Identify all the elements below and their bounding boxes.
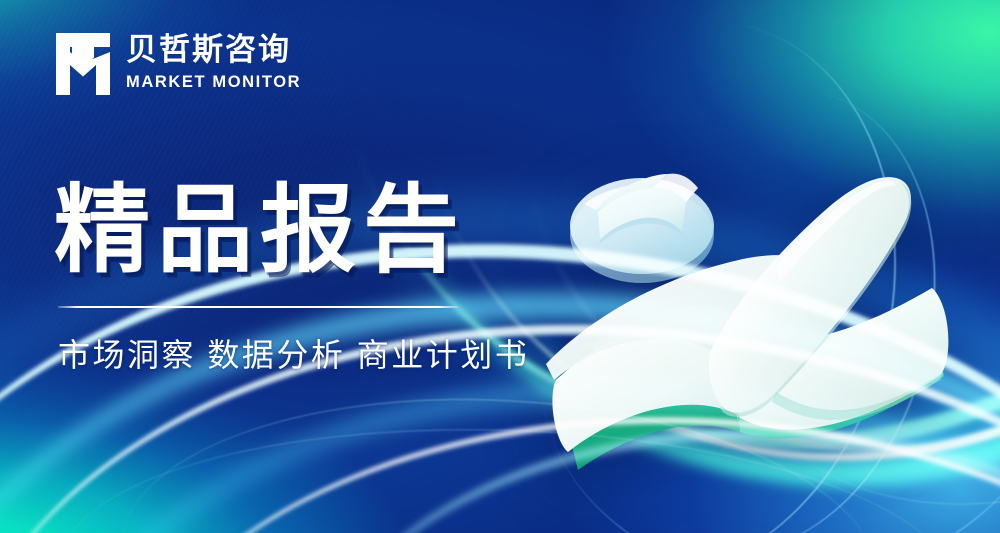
book-page-left (552, 318, 751, 452)
page-edge-stack-left (562, 355, 732, 426)
report-banner: 贝哲斯咨询 MARKET MONITOR 精品报告 市场洞察 数据分析 商业计划… (0, 0, 1000, 533)
book-turning-page (709, 177, 911, 413)
market-monitor-m-mark-icon (56, 33, 110, 95)
brand-logo-words: 贝哲斯咨询 MARKET MONITOR (126, 33, 301, 94)
hairline-arc-1 (412, 0, 949, 533)
hairline-arc-2 (543, 51, 985, 533)
book-page-left-gloss (592, 307, 732, 356)
book-spine-shadow (730, 326, 740, 420)
hairline-arc-4 (419, 284, 1000, 533)
mini-book-body (598, 188, 686, 240)
cyan-swoosh-glow (0, 60, 1000, 533)
lens-disc-top (570, 178, 714, 274)
mini-book-left-page (598, 174, 668, 212)
green-swoosh-band-5 (443, 0, 1000, 533)
lens-disc-base (570, 187, 714, 283)
brand-name-cn: 贝哲斯咨询 (126, 33, 301, 66)
brand-name-en: MARKET MONITOR (126, 70, 301, 95)
subtitle: 市场洞察 数据分析 商业计划书 (58, 334, 529, 377)
mini-book-right-page (652, 174, 698, 202)
hairline-arc-5 (112, 380, 888, 533)
hairline-arc-7 (738, 161, 1000, 533)
open-book-illustration (540, 140, 970, 470)
book-cover-green-right (736, 332, 944, 438)
lens-disc-highlight (584, 184, 668, 210)
book-page-top-left (546, 255, 824, 380)
mini-book-edge (600, 218, 682, 244)
book-page-right-edge (772, 372, 944, 420)
cyan-swoosh-band-7 (279, 397, 1000, 533)
book-turning-page-gloss (776, 180, 896, 282)
brand-logo[interactable]: 贝哲斯咨询 MARKET MONITOR (56, 33, 301, 95)
book-turning-page-underside (720, 182, 911, 417)
page-edge-highlight (564, 363, 734, 424)
hairline-arc-6 (55, 414, 965, 533)
page-title: 精品报告 (54, 181, 466, 282)
title-divider (58, 306, 458, 308)
book-cover-green (566, 332, 944, 470)
hairline-arc-3 (519, 124, 1000, 533)
cyan-swoosh-band-5 (50, 356, 1000, 533)
book-page-right (729, 288, 948, 430)
